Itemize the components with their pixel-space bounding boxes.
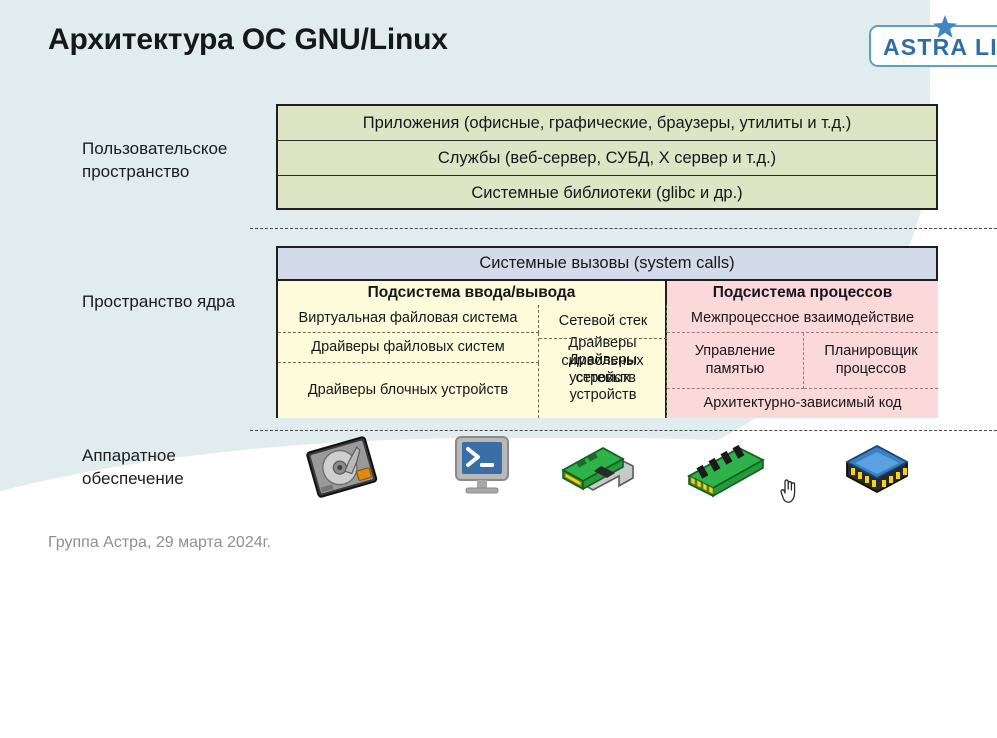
slide-stage: Архитектура ОС GNU/Linux ASTRA LIN Польз…: [0, 0, 997, 576]
user-space-row-services[interactable]: Службы (веб-сервер, СУБД, X сервер и т.д…: [278, 141, 936, 176]
astra-linux-logo: ASTRA LIN: [869, 25, 997, 67]
cell-network-stack[interactable]: Сетевой стек: [539, 305, 667, 339]
kernel-space-block: Системные вызовы (system calls) Подсисте…: [276, 246, 938, 418]
cell-network-drivers[interactable]: Драйверы сетевых устройств: [539, 339, 667, 418]
slide-footer: Группа Астра, 29 марта 2024г.: [48, 534, 271, 552]
network-card-icon[interactable]: [557, 440, 641, 504]
user-space-row-applications[interactable]: Приложения (офисные, графические, браузе…: [278, 106, 936, 141]
cell-process-scheduler[interactable]: Планировщик процессов: [804, 333, 938, 389]
separator-user-kernel: [250, 228, 997, 229]
user-space-row-libraries[interactable]: Системные библиотеки (glibc и др.): [278, 176, 936, 210]
network-column: Сетевой стек Драйверы сетевых устройств: [539, 305, 667, 418]
cell-ipc[interactable]: Межпроцессное взаимодействие: [667, 305, 938, 333]
hard-disk-icon[interactable]: [300, 436, 384, 500]
layer-label-hardware: Аппаратное обеспечение: [82, 445, 282, 491]
separator-kernel-hardware: [250, 430, 997, 431]
hand-pointer-cursor: [778, 478, 800, 504]
io-subsystem-heading: Подсистема ввода/вывода: [278, 281, 665, 305]
cell-virtual-file-system[interactable]: Виртуальная файловая система: [278, 305, 539, 333]
terminal-monitor-icon[interactable]: [440, 433, 524, 497]
cell-block-device-drivers[interactable]: Драйверы блочных устройств: [278, 363, 539, 418]
cell-filesystem-drivers[interactable]: Драйверы файловых систем: [278, 333, 539, 363]
user-space-stack: Приложения (офисные, графические, браузе…: [276, 104, 938, 210]
cell-arch-dependent-code[interactable]: Архитектурно-зависимый код: [667, 389, 938, 418]
logo-text: ASTRA LIN: [883, 34, 997, 61]
process-subsystem-column: Подсистема процессов Межпроцессное взаим…: [667, 281, 938, 418]
page-title: Архитектура ОС GNU/Linux: [48, 23, 448, 57]
cpu-chip-icon[interactable]: [835, 438, 919, 502]
cell-memory-management[interactable]: Управление памятью: [667, 333, 804, 389]
layer-label-kernel-space: Пространство ядра: [82, 291, 282, 314]
layer-label-user-space: Пользовательское пространство: [82, 138, 282, 184]
ram-module-icon[interactable]: [683, 440, 767, 504]
system-calls-row[interactable]: Системные вызовы (system calls): [278, 248, 936, 281]
process-subsystem-heading: Подсистема процессов: [667, 281, 938, 305]
